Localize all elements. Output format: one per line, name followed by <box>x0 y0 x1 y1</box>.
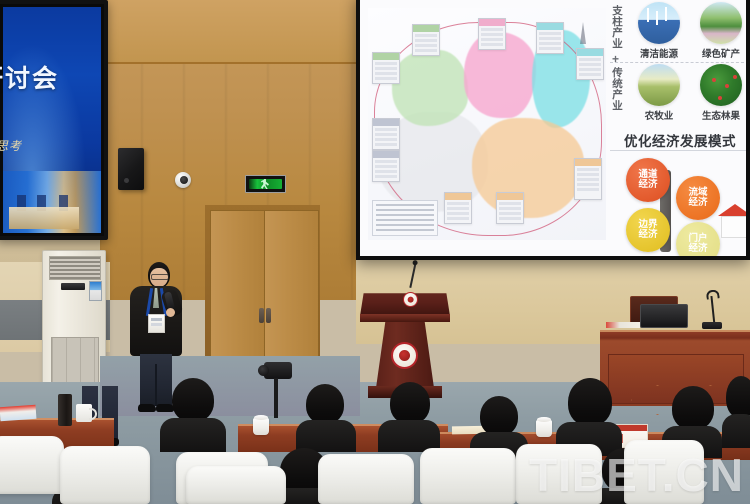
industry-caption: 绿色矿产 <box>692 46 746 60</box>
bubble-line2: 经济 <box>688 198 707 208</box>
map-callout <box>574 158 602 200</box>
camera-lens-icon <box>258 365 269 376</box>
lcd-figure <box>37 195 46 211</box>
industry-matrix: 支柱产业 + 传统产业 清洁能源 绿色矿产 农牧业 生 <box>610 2 746 126</box>
audience-head <box>726 376 750 418</box>
presenter-shoe-left <box>138 404 156 412</box>
microphone-base <box>702 322 722 329</box>
emergency-exit-sign <box>245 175 286 193</box>
ac-display-panel <box>61 283 85 290</box>
door-left[interactable] <box>210 210 265 364</box>
audience-chair[interactable] <box>0 436 64 494</box>
industry-caption: 清洁能源 <box>630 46 688 60</box>
traditional-industry-label: 传统产业 <box>610 68 625 112</box>
conference-hall-photo: 术研讨会 离都的思考 <box>0 0 750 504</box>
audience-chair[interactable] <box>60 446 150 504</box>
ac-vent-grille <box>49 256 101 280</box>
map-callout <box>496 192 524 224</box>
bubble-border-economy: 边界 经济 <box>626 208 670 252</box>
door-handle-right[interactable] <box>266 308 271 323</box>
audience-head <box>172 378 214 422</box>
lidded-teacup <box>536 420 552 437</box>
bubble-line2: 经济 <box>638 230 657 240</box>
economy-model-tree: 通道 经济 流域 经济 边界 经济 门户 经济 <box>610 156 746 252</box>
compass-north-icon <box>580 22 586 44</box>
presentation-slide: 支柱产业 + 传统产业 清洁能源 绿色矿产 农牧业 生 <box>360 0 746 256</box>
audience-head <box>306 384 344 424</box>
conference-name-badge <box>148 314 165 333</box>
map-callout <box>372 118 400 150</box>
map-callout <box>372 150 400 182</box>
audience-head <box>672 386 714 430</box>
institutional-seal-emblem <box>391 342 418 369</box>
white-mug <box>76 404 92 422</box>
industry-caption: 生态林果 <box>692 108 746 122</box>
green-mountain-icon <box>700 2 742 44</box>
plus-symbol: + <box>612 52 619 66</box>
industry-cell-green-minerals: 绿色矿产 <box>692 2 746 60</box>
door-right[interactable] <box>264 210 319 364</box>
map-callout <box>444 192 472 224</box>
audience-shoulders <box>722 414 750 448</box>
house-body <box>721 216 746 238</box>
projection-screen-frame: 支柱产业 + 传统产业 清洁能源 绿色矿产 农牧业 生 <box>356 0 750 260</box>
wall-speaker-box <box>118 148 144 190</box>
exit-sign-glow <box>249 179 282 189</box>
solar-wind-icon <box>638 2 680 44</box>
regional-planning-map <box>368 8 606 240</box>
map-callout <box>478 18 506 50</box>
video-camera-on-monopod <box>258 362 298 422</box>
map-callout <box>576 48 604 80</box>
eyeglasses-icon <box>151 274 169 280</box>
lcd-subtitle-text: 离都的思考 <box>0 137 108 154</box>
bubble-basin-economy: 流域 经济 <box>676 176 720 220</box>
slide-section-heading: 优化经济发展模式 <box>606 130 746 150</box>
lectern-emblem-small <box>403 292 418 307</box>
red-roof-house-icon <box>718 204 746 236</box>
lectern-lip <box>360 314 450 322</box>
industry-cell-agriculture: 农牧业 <box>630 64 688 122</box>
stacked-documents <box>0 405 36 421</box>
dome-security-camera <box>175 172 191 188</box>
grassland-cattle-icon <box>638 64 680 106</box>
monopod-pole <box>274 378 278 418</box>
fruit-tree-icon <box>700 64 742 106</box>
audience-chair[interactable] <box>624 440 704 504</box>
pillar-industry-label: 支柱产业 <box>610 6 625 50</box>
audience-member <box>296 384 356 450</box>
audience-member <box>160 378 226 448</box>
audience-chair[interactable] <box>318 454 414 504</box>
wood-header-band <box>100 0 356 64</box>
lcd-figure <box>17 195 26 211</box>
house-roof <box>718 204 746 216</box>
audience-head <box>568 378 612 426</box>
black-thermos-flask <box>58 394 72 426</box>
audience-member <box>556 378 622 454</box>
audience-chair[interactable] <box>420 448 516 504</box>
audience-member <box>726 376 750 446</box>
bubble-line2: 经济 <box>688 244 707 254</box>
map-legend <box>372 200 438 236</box>
lcd-title-text: 术研讨会 <box>0 59 101 95</box>
laptop-monitor[interactable] <box>640 304 688 328</box>
left-lcd-display: 术研讨会 离都的思考 <box>0 0 108 240</box>
running-man-icon <box>261 179 269 189</box>
ac-energy-label-sticker <box>89 281 102 301</box>
industry-cell-forestry: 生态林果 <box>692 64 746 122</box>
audience-member <box>378 382 440 450</box>
bubble-line2: 经济 <box>638 180 657 190</box>
audience-chair[interactable] <box>186 466 286 504</box>
audience-chair[interactable] <box>516 444 602 504</box>
lcd-figure <box>59 195 68 211</box>
heading-divider <box>610 150 746 151</box>
door-handle-left[interactable] <box>259 308 264 323</box>
industry-cell-clean-energy: 清洁能源 <box>630 2 688 60</box>
bubble-corridor-economy: 通道 经济 <box>626 158 670 202</box>
lcd-photo-strip <box>3 171 101 233</box>
map-terrain <box>368 8 606 240</box>
map-callout <box>412 24 440 56</box>
lcd-screen: 术研讨会 离都的思考 <box>3 7 101 233</box>
audience-shoulders <box>160 418 226 452</box>
audience-head <box>480 396 518 436</box>
industry-divider <box>610 62 746 63</box>
desk-documents <box>606 322 640 328</box>
map-callout <box>536 22 564 54</box>
map-callout <box>372 52 400 84</box>
presenter-hand <box>166 308 175 317</box>
bubble-gateway-economy: 门户 经济 <box>676 222 720 256</box>
audience-head <box>390 382 430 424</box>
industry-caption: 农牧业 <box>630 108 688 122</box>
